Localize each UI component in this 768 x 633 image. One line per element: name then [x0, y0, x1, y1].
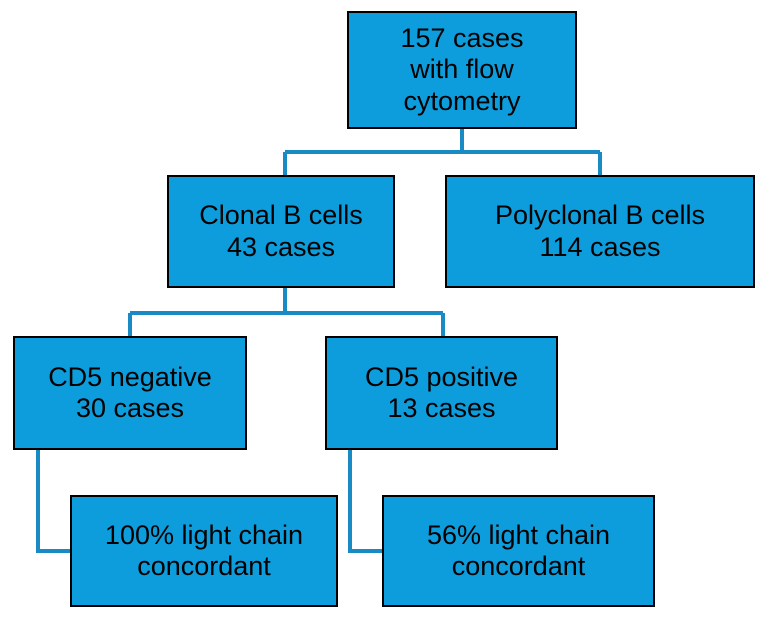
node-text-line: 114 cases [539, 232, 660, 263]
light-chain-concordant-100-node: 100% light chain concordant [70, 495, 338, 607]
polyclonal-b-cells-node: Polyclonal B cells 114 cases [445, 175, 755, 288]
node-text-line: concordant [452, 551, 586, 582]
cd5-positive-node: CD5 positive 13 cases [325, 336, 558, 450]
root-node: 157 cases with flow cytometry [347, 11, 577, 129]
clonal-b-cells-node: Clonal B cells 43 cases [167, 175, 395, 288]
edge-cd5neg-to-conc100 [38, 450, 70, 551]
node-text-line: 43 cases [227, 232, 335, 263]
flowchart-diagram: 157 cases with flow cytometry Clonal B c… [0, 0, 768, 633]
node-text-line: Polyclonal B cells [495, 200, 705, 231]
node-text-line: 157 cases [400, 23, 523, 54]
node-text-line: 56% light chain [427, 520, 610, 551]
node-text-line: 13 cases [387, 393, 495, 424]
node-text-line: CD5 negative [48, 362, 212, 393]
edge-cd5pos-to-conc56 [350, 450, 382, 551]
light-chain-concordant-56-node: 56% light chain concordant [382, 495, 655, 607]
node-text-line: 30 cases [76, 393, 184, 424]
node-text-line: concordant [137, 551, 271, 582]
node-text-line: 100% light chain [105, 520, 303, 551]
node-text-line: with flow [410, 54, 514, 85]
cd5-negative-node: CD5 negative 30 cases [13, 336, 247, 450]
node-text-line: Clonal B cells [199, 200, 363, 231]
node-text-line: CD5 positive [365, 362, 518, 393]
node-text-line: cytometry [403, 86, 520, 117]
